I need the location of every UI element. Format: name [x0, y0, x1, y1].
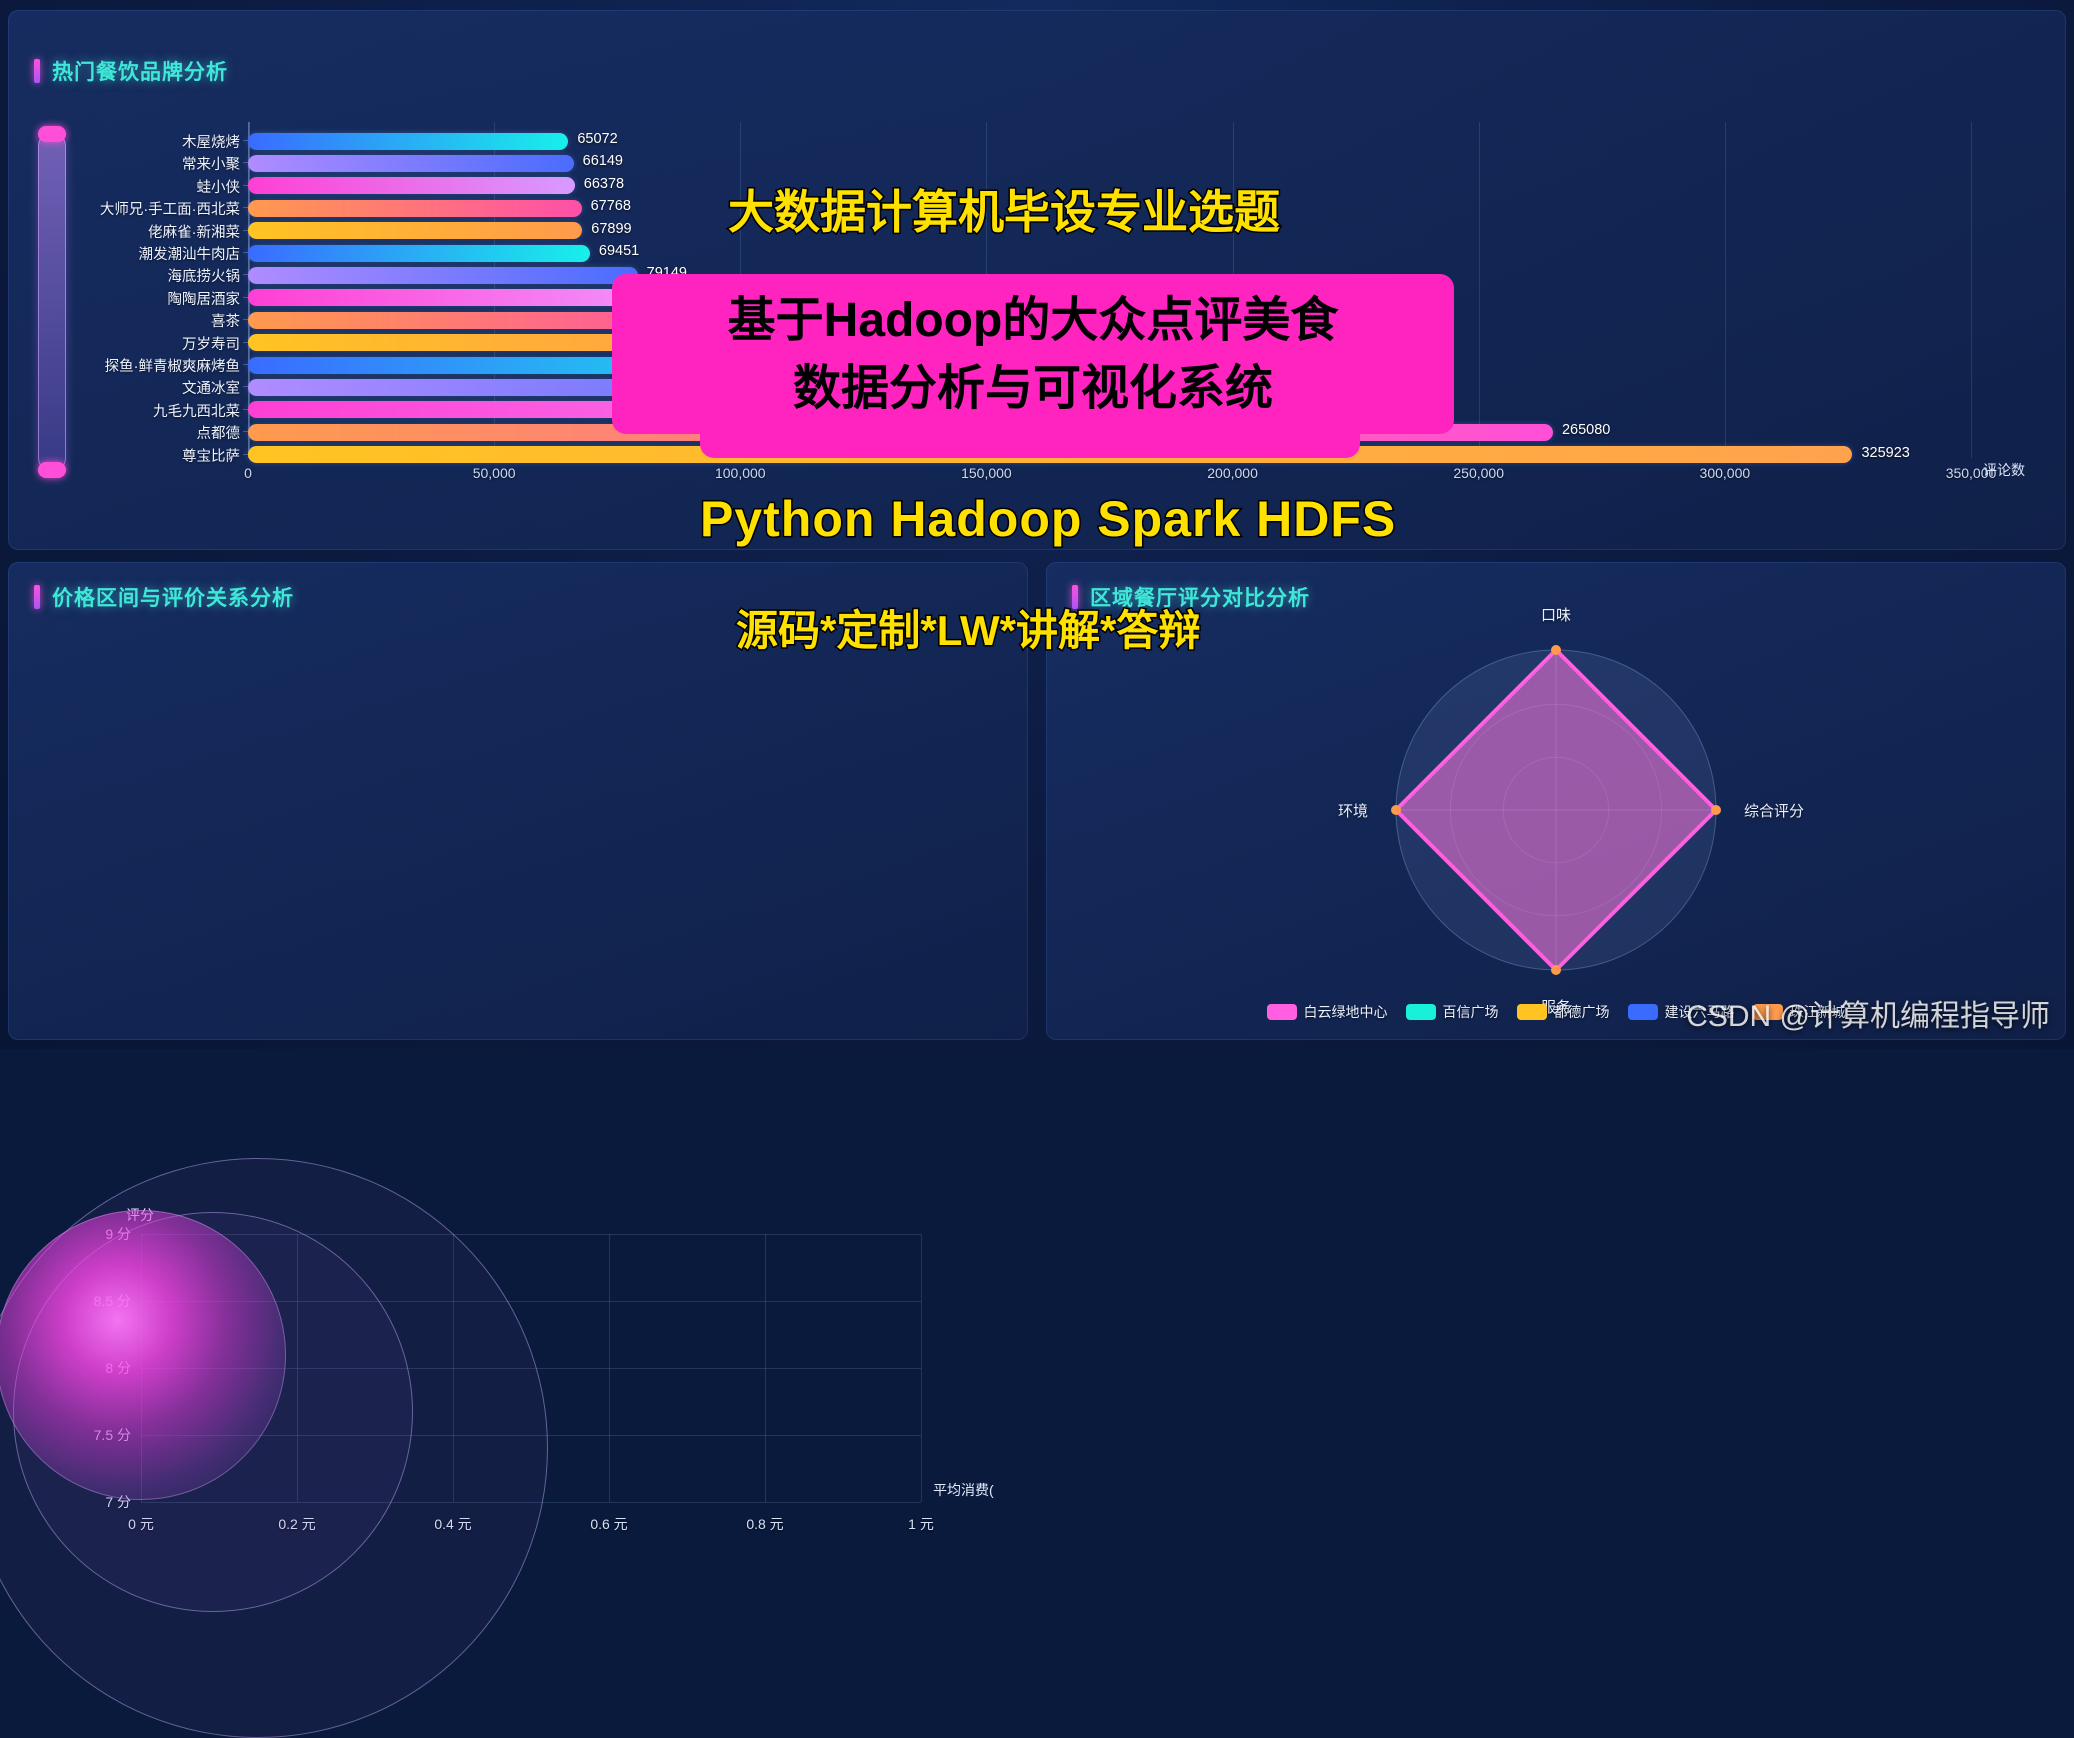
bar-chart-value-label: 69451 — [599, 243, 639, 259]
bar-chart-value-label: 65072 — [577, 131, 617, 147]
legend-item[interactable]: 百信广场 — [1406, 1002, 1499, 1022]
scatter-x-tick: 0.6 元 — [574, 1514, 644, 1534]
radar-axis-label: 环境 — [1228, 800, 1368, 821]
legend-swatch — [1517, 1004, 1547, 1020]
bar-chart-bar[interactable] — [248, 245, 590, 262]
radar-data-point[interactable] — [1711, 805, 1721, 815]
scatter-x-tick: 1 元 — [886, 1514, 956, 1534]
bar-chart-bar[interactable] — [248, 200, 582, 217]
bar-chart-bar[interactable] — [248, 177, 575, 194]
bar-chart-value-label: 67899 — [591, 221, 631, 237]
promo-title-box: 基于Hadoop的大众点评美食 数据分析与可视化系统 — [612, 274, 1454, 434]
bar-chart-category-label: 陶陶居酒家 — [20, 288, 240, 309]
legend-item[interactable]: 都德广场 — [1517, 1002, 1610, 1022]
bar-chart-value-label: 66149 — [583, 153, 623, 169]
bar-chart-gridline — [1971, 122, 1972, 458]
bar-chart-category-label: 常来小聚 — [20, 153, 240, 174]
promo-services: 源码*定制*LW*讲解*答辩 — [736, 597, 1200, 658]
bar-chart-bar[interactable] — [248, 267, 638, 284]
bar-chart-value-label: 265080 — [1562, 422, 1610, 438]
promo-tech-stack: Python Hadoop Spark HDFS — [700, 490, 1396, 548]
legend-label: 百信广场 — [1443, 1002, 1499, 1022]
radar-axis-label: 口味 — [1486, 604, 1626, 625]
bar-chart-x-tick: 200,000 — [1203, 465, 1263, 481]
legend-swatch — [1628, 1004, 1658, 1020]
radar-data-point[interactable] — [1551, 645, 1561, 655]
bar-chart-category-label: 蛙小侠 — [20, 176, 240, 197]
bar-chart-category-label: 尊宝比萨 — [20, 445, 240, 466]
legend-label: 白云绿地中心 — [1304, 1002, 1388, 1022]
bar-chart-gridline — [1479, 122, 1480, 458]
bar-chart-category-label: 木屋烧烤 — [20, 131, 240, 152]
scatter-bubble[interactable] — [0, 1210, 286, 1500]
bar-chart-bar[interactable] — [248, 133, 568, 150]
promo-box-line-2: 数据分析与可视化系统 — [612, 348, 1454, 418]
bar-chart-value-label: 67768 — [591, 198, 631, 214]
promo-box-line-1: 基于Hadoop的大众点评美食 — [612, 280, 1454, 350]
bar-chart-category-label: 潮发潮汕牛肉店 — [20, 243, 240, 264]
bar-chart-category-label: 九毛九西北菜 — [20, 400, 240, 421]
bar-chart-x-axis-name: 评论数 — [1983, 460, 2025, 480]
radar-data-point[interactable] — [1551, 965, 1561, 975]
bar-chart-x-tick: 300,000 — [1695, 465, 1755, 481]
bar-chart-x-tick: 150,000 — [956, 465, 1016, 481]
radar-data-point[interactable] — [1391, 805, 1401, 815]
bar-chart-gridline — [1725, 122, 1726, 458]
radar-axis-label: 综合评分 — [1744, 800, 1884, 821]
bar-chart-bar[interactable] — [248, 155, 574, 172]
bar-chart-value-label: 325923 — [1861, 445, 1909, 461]
bar-chart-x-tick: 50,000 — [464, 465, 524, 481]
scatter-x-axis-name: 平均消费( — [933, 1480, 994, 1500]
bar-chart-x-tick: 100,000 — [710, 465, 770, 481]
bar-chart-category-label: 海底捞火锅 — [20, 265, 240, 286]
bar-chart-category-label: 探鱼·鲜青椒爽麻烤鱼 — [20, 355, 240, 376]
bar-chart-category-label: 喜茶 — [20, 310, 240, 331]
bar-chart-category-label: 点都德 — [20, 422, 240, 443]
bar-chart-category-label: 大师兄·手工面·西北菜 — [20, 198, 240, 219]
legend-item[interactable]: 白云绿地中心 — [1267, 1002, 1388, 1022]
legend-swatch — [1267, 1004, 1297, 1020]
bar-chart-value-label: 66378 — [584, 176, 624, 192]
bar-chart-x-tick: 0 — [218, 465, 278, 481]
watermark: CSDN @计算机编程指导师 — [1686, 991, 2050, 1035]
bar-chart-category-label: 万岁寿司 — [20, 333, 240, 354]
bar-chart-x-tick: 250,000 — [1449, 465, 1509, 481]
scatter-x-tick: 0.8 元 — [730, 1514, 800, 1534]
legend-label: 都德广场 — [1554, 1002, 1610, 1022]
bar-chart-category-label: 佬麻雀·新湘菜 — [20, 221, 240, 242]
scatter-gridline-v — [921, 1234, 922, 1502]
legend-swatch — [1406, 1004, 1436, 1020]
bar-chart-bar[interactable] — [248, 222, 582, 239]
bar-chart-category-label: 文通冰室 — [20, 377, 240, 398]
promo-headline: 大数据计算机毕设专业选题 — [728, 176, 1280, 242]
